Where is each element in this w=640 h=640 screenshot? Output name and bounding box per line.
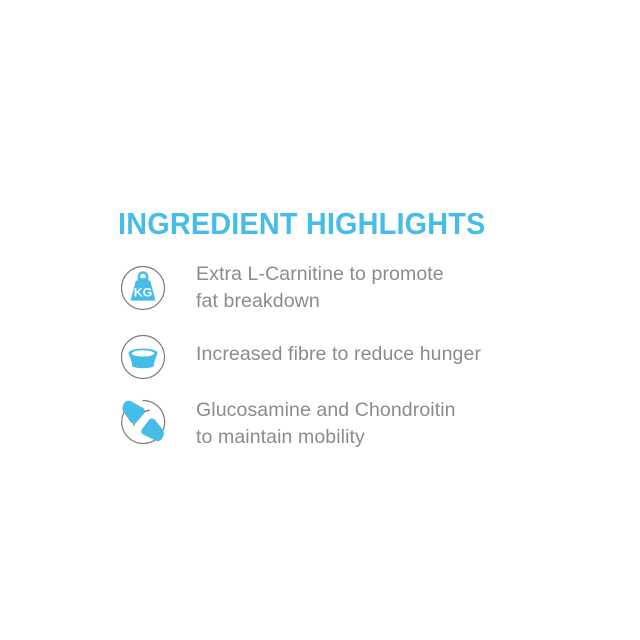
- ingredient-highlights-panel: INGREDIENT HIGHLIGHTS KG Extra L-Carniti…: [0, 0, 640, 640]
- highlight-row: Glucosamine and Chondroitin to maintain …: [118, 392, 598, 452]
- highlight-text: Increased fibre to reduce hunger: [196, 327, 481, 368]
- highlight-row: Increased fibre to reduce hunger: [118, 327, 598, 387]
- dog-bowl-icon: [118, 327, 168, 387]
- page-title: INGREDIENT HIGHLIGHTS: [118, 206, 485, 242]
- weight-icon-label: KG: [134, 285, 153, 299]
- joint-bone-icon: [118, 392, 168, 452]
- weight-kg-icon: KG: [118, 258, 168, 318]
- highlight-text: Glucosamine and Chondroitin to maintain …: [196, 392, 456, 451]
- highlight-row: KG Extra L-Carnitine to promote fat brea…: [118, 258, 598, 318]
- highlight-text: Extra L-Carnitine to promote fat breakdo…: [196, 258, 444, 315]
